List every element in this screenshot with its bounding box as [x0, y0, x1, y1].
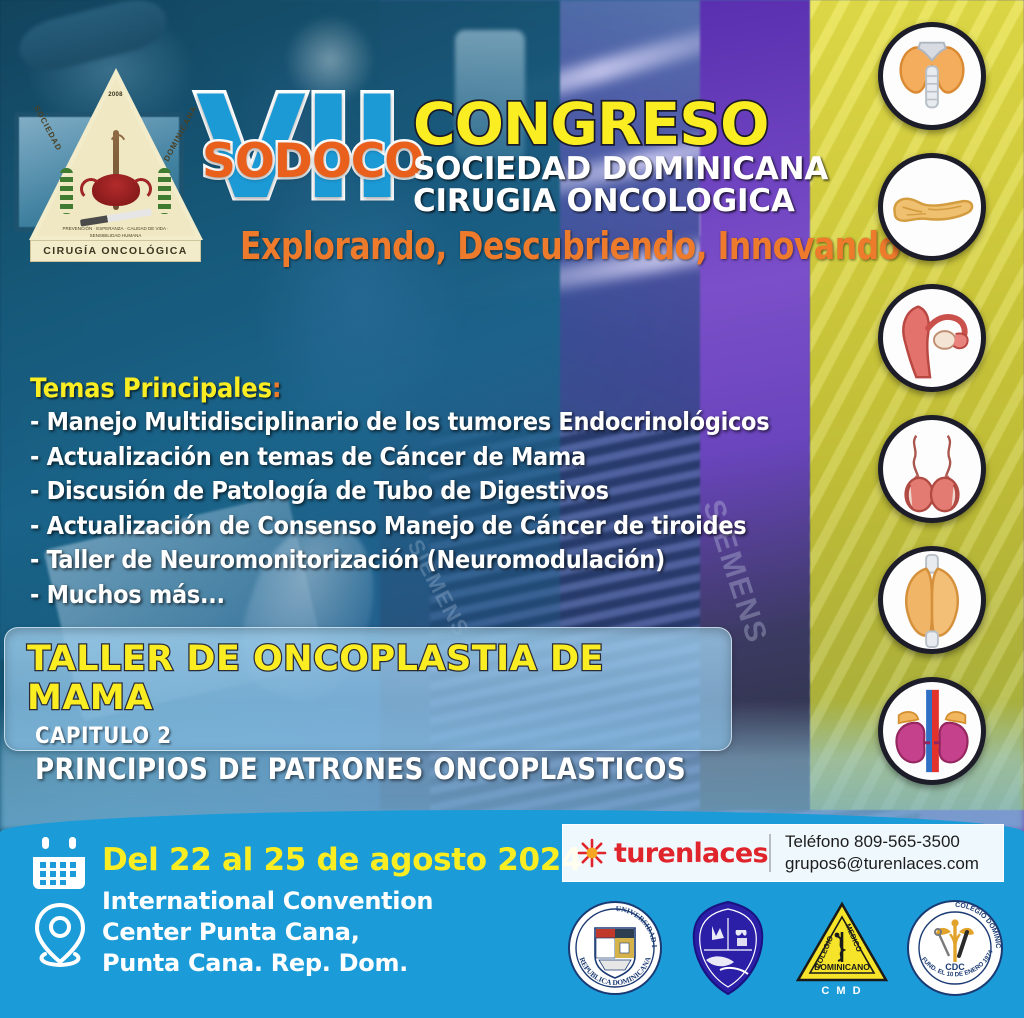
emblem-base-text: CIRUGÍA ONCOLÓGICA	[43, 245, 187, 257]
turenlaces-logo: turenlaces	[563, 838, 769, 868]
sunburst-icon	[577, 838, 607, 868]
testes-icon	[878, 415, 986, 523]
event-venue: International Convention Center Punta Ca…	[102, 886, 433, 979]
kidneys-adrenal-icon	[878, 677, 986, 785]
poster-footer: Del 22 al 25 de agosto 2024 Internationa…	[0, 810, 1024, 1018]
topics-heading-text: Temas Principales	[30, 373, 272, 404]
main-topics-section: Temas Principales: - Manejo Multidiscipl…	[30, 372, 810, 612]
workshop-title: TALLER DE ONCOPLASTIA DE MAMA	[27, 640, 731, 718]
venue-line2: Center Punta Cana,	[102, 917, 433, 948]
topic-item: - Manejo Multidisciplinario de los tumor…	[30, 405, 810, 440]
workshop-subtitle: PRINCIPIOS DE PATRONES ONCOPLASTICOS	[35, 753, 731, 785]
congress-tagline: Explorando, Descubriendo, Innovando	[240, 226, 900, 266]
university-shield-logo	[678, 898, 778, 998]
parathyroid-icon	[878, 546, 986, 654]
colegio-medico-dominicano-logo: COLEGIO MEDICO DOMINICANO C M D	[792, 898, 892, 998]
uterus-ovary-icon	[878, 284, 986, 392]
topic-item: - Taller de Neuromonitorización (Neuromo…	[30, 543, 810, 578]
colegio-dominicano-cirujanos-logo: COLEGIO DOMINICANO DE CIRUJANOS, INC. FU…	[905, 898, 1005, 998]
contact-email: grupos6@turenlaces.com	[785, 853, 979, 875]
topic-item: - Actualización de Consenso Manejo de Cá…	[30, 509, 810, 544]
turenlaces-wordmark: turenlaces	[614, 840, 768, 867]
sodoco-acronym: SODOCO	[202, 138, 423, 185]
emblem-year: 2008	[108, 92, 123, 98]
venue-line1: International Convention	[102, 886, 433, 917]
society-name-line1: SOCIEDAD DOMINICANA	[413, 152, 828, 186]
workshop-banner: TALLER DE ONCOPLASTIA DE MAMA CAPITULO 2…	[4, 627, 732, 751]
contact-details: Teléfono 809-565-3500 grupos6@turenlaces…	[771, 831, 979, 875]
workshop-chapter: CAPITULO 2	[35, 724, 731, 749]
venue-line3: Punta Cana. Rep. Dom.	[102, 948, 433, 979]
society-name-line2: CIRUGIA ONCOLOGICA	[413, 184, 795, 218]
emblem-triangle: 2008 SOCIEDAD DOMINICANA PREVENCIÓN · ES…	[28, 68, 203, 246]
calendar-icon	[30, 837, 88, 893]
pancreas-icon	[878, 153, 986, 261]
laurel-leaf-icon	[158, 168, 171, 214]
emblem-motto: PREVENCIÓN · ESPERANZA · CALIDAD DE VIDA…	[56, 226, 176, 240]
topic-item: - Muchos más...	[30, 578, 810, 613]
sodoco-emblem-logo: 2008 SOCIEDAD DOMINICANA PREVENCIÓN · ES…	[28, 68, 203, 273]
unibe-logo: UNIVERSIDAD IBEROAMERICANA REPUBLICA DOM…	[565, 898, 665, 998]
topic-item: - Discusión de Patología de Tubo de Dige…	[30, 474, 810, 509]
thyroid-gland-icon	[878, 22, 986, 130]
svg-text:C M D: C M D	[821, 985, 862, 997]
congress-word: CONGRESO	[413, 95, 768, 153]
congress-poster: SIEMENS SIEMENS 2008 SOCIEDAD DOMINICANA…	[0, 0, 1024, 1018]
emblem-base-label: CIRUGÍA ONCOLÓGICA	[30, 240, 201, 262]
crab-cancer-icon	[92, 174, 140, 206]
svg-text:CDC: CDC	[945, 962, 965, 972]
location-pin-icon	[33, 902, 87, 968]
edition-logo: VII SODOCO	[196, 78, 411, 233]
event-date: Del 22 al 25 de agosto 2024	[102, 842, 582, 878]
contact-phone: Teléfono 809-565-3500	[785, 831, 979, 853]
svg-text:DOMINICANO: DOMINICANO	[814, 962, 870, 972]
topic-item: - Actualización en temas de Cáncer de Ma…	[30, 440, 810, 475]
topics-heading-colon: :	[272, 373, 282, 404]
sponsor-logos: UNIVERSIDAD IBEROAMERICANA REPUBLICA DOM…	[565, 892, 1005, 1004]
topics-heading: Temas Principales:	[30, 372, 810, 405]
laurel-leaf-icon	[60, 168, 73, 214]
contact-card: turenlaces Teléfono 809-565-3500 grupos6…	[562, 824, 1004, 882]
